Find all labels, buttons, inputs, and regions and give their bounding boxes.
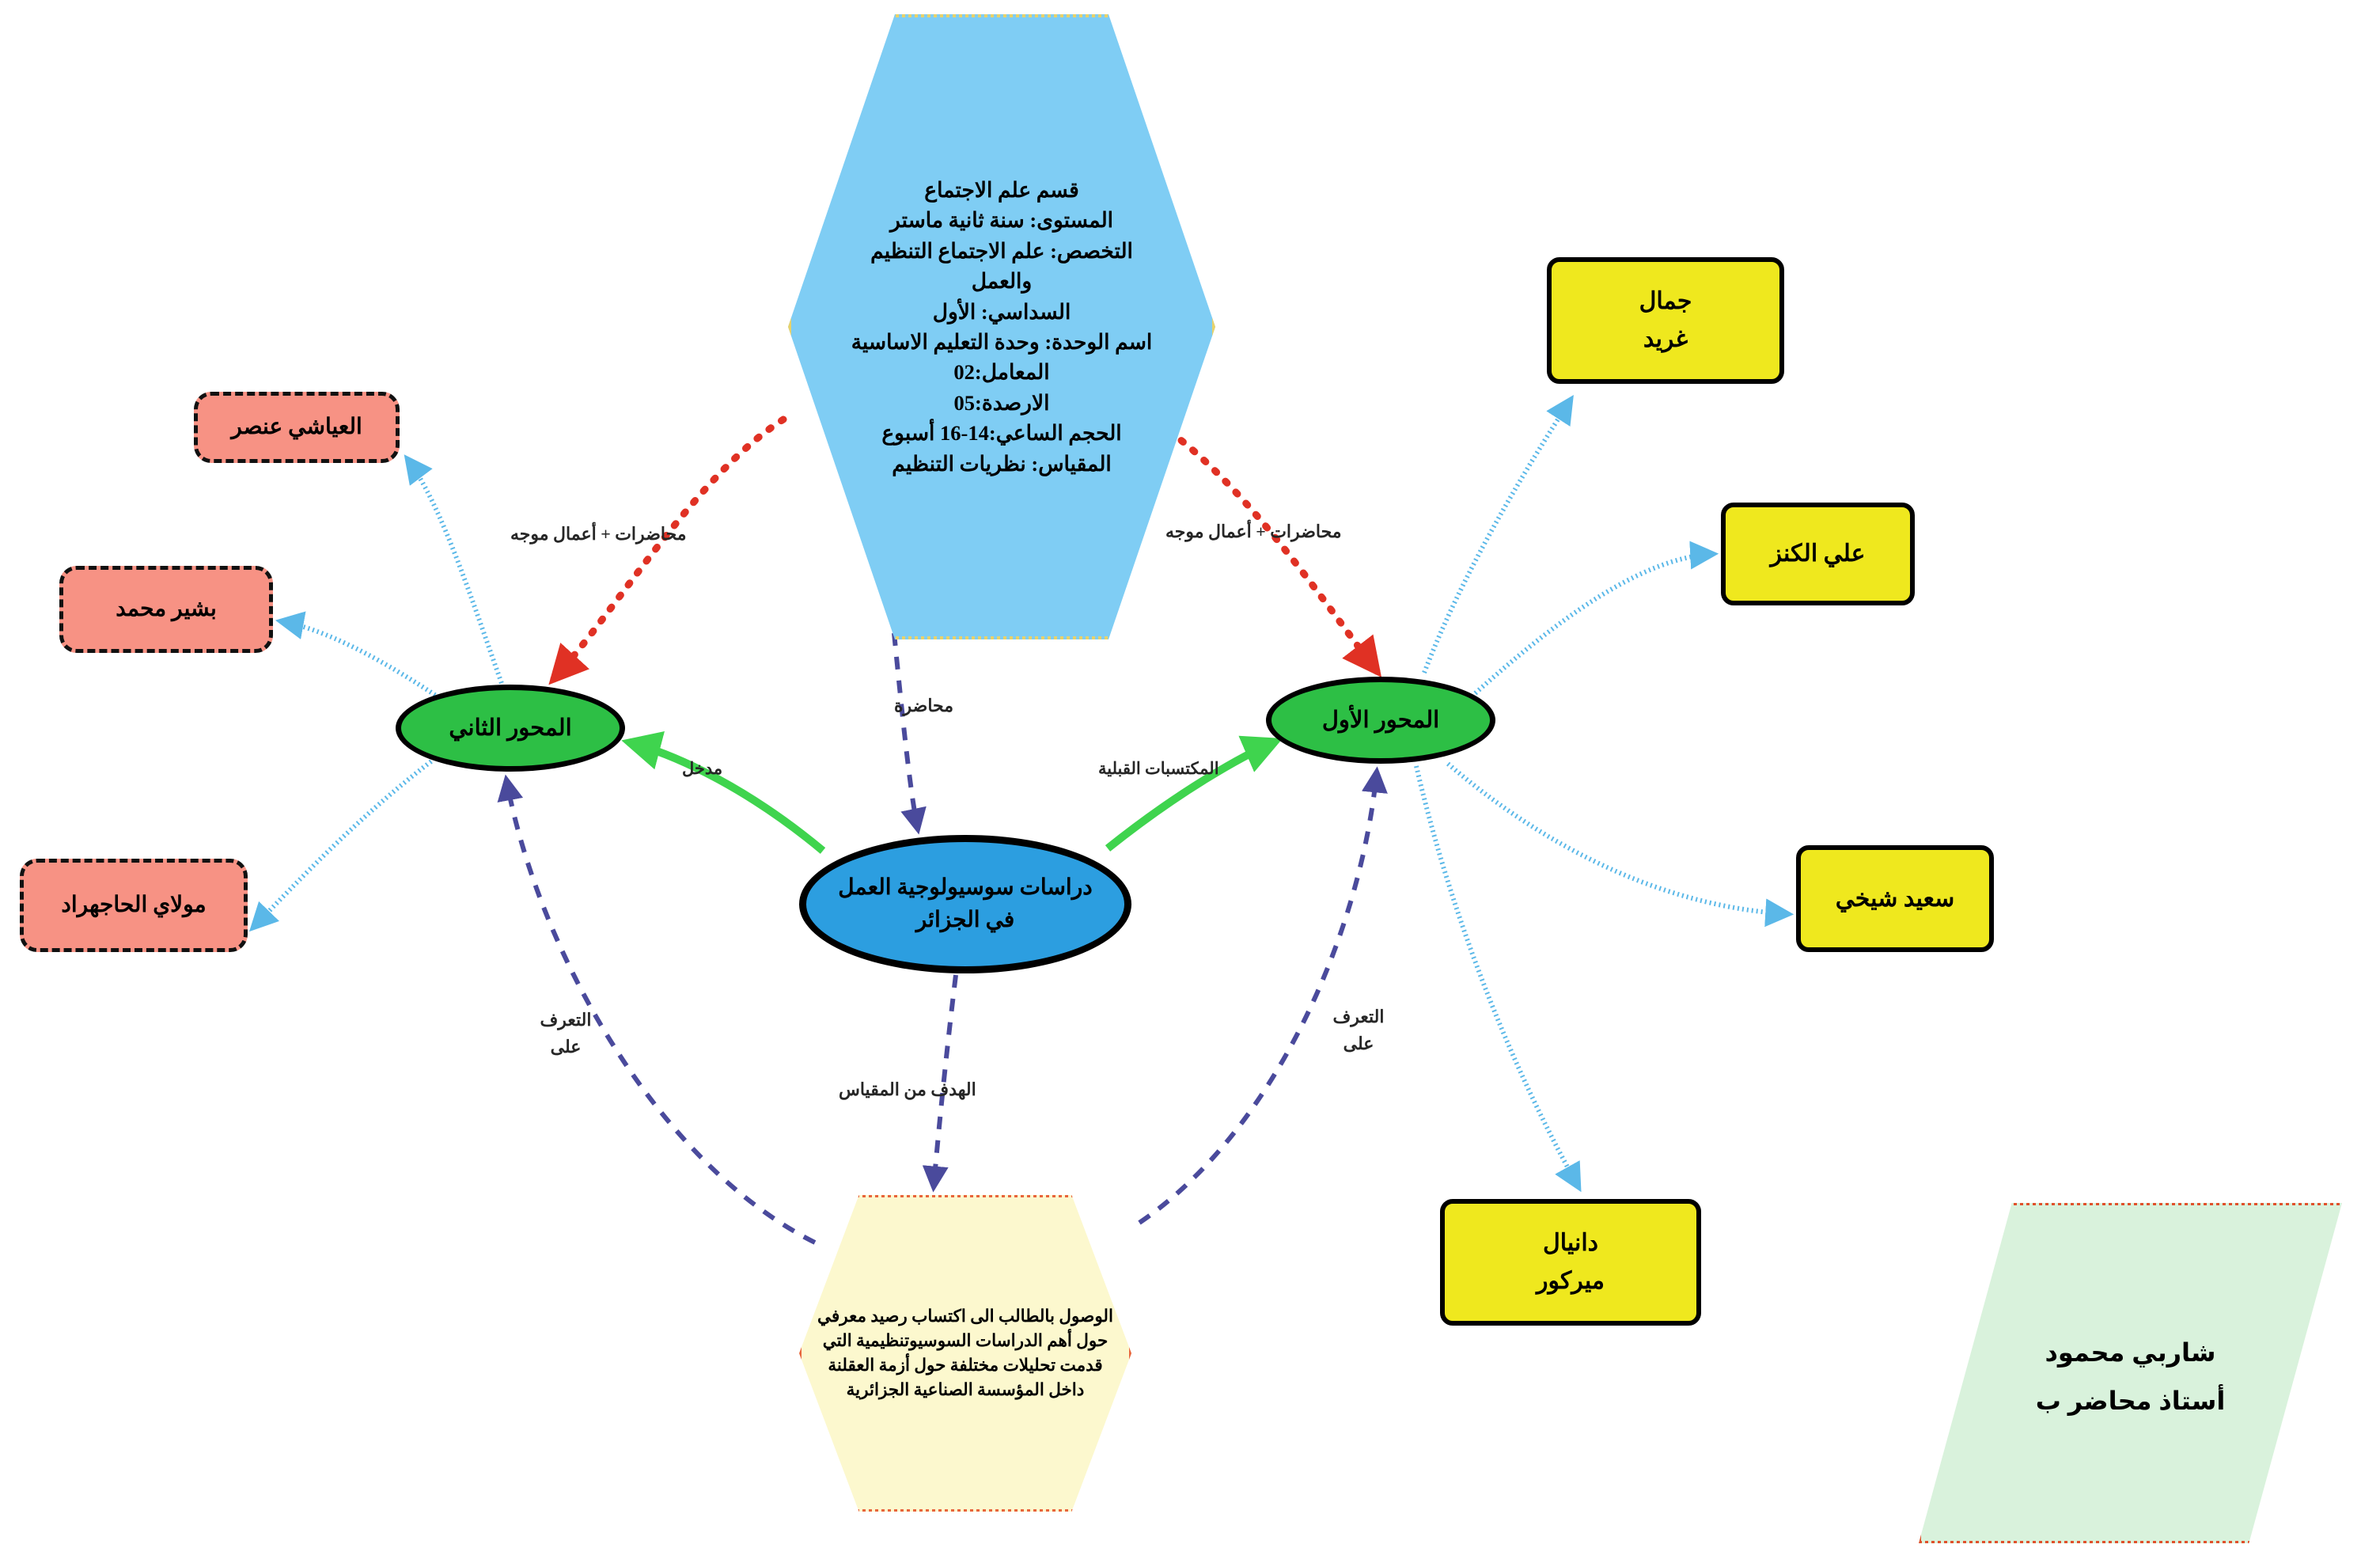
course-info-line-6: المعامل:02 [953, 357, 1049, 387]
course-info-line-0: قسم علم الاجتماع [924, 175, 1078, 205]
edge-label-lectures-left: محاضرات + أعمال موجه [510, 521, 687, 548]
mindmap-canvas: قسم علم الاجتماع المستوى: سنة ثانية ماست… [0, 0, 2380, 1548]
teacher-parallelogram-text: شاربي محمود أستاذ محاضر ب [1919, 1203, 2342, 1543]
edge-objective-to-axis1 [1139, 772, 1377, 1223]
edge-label-goal-of-course: الهدف من المقياس [839, 1076, 976, 1103]
edge-label-identify-left-line1: التعرف [530, 1007, 601, 1034]
author-label-moulay: مولاي الحاجهراد [61, 890, 206, 922]
course-info-line-8: الحجم الساعي:14-16 أسبوع [881, 418, 1121, 448]
edge-axis2-to-bachir [281, 621, 455, 708]
edge-label-entry: مدخل [682, 756, 722, 782]
edge-axis1-to-said [1448, 764, 1788, 914]
edge-info-to-center [894, 633, 918, 829]
objective-line-2: قدمت تحليلات مختلفة حول أزمة العقلنة [828, 1353, 1102, 1378]
course-info-line-3: والعمل [972, 266, 1032, 296]
objective-hexagon: الوصول بالطالب الى اكتساب رصيد معرفي حول… [799, 1195, 1131, 1512]
author-box-ayachi[interactable]: العياشي عنصر [194, 392, 400, 463]
author-label-ali-elkenz: علي الكنز [1771, 535, 1866, 573]
author-box-bachir[interactable]: بشير محمد [59, 566, 273, 653]
author-box-ali-elkenz[interactable]: علي الكنز [1721, 503, 1915, 605]
course-info-line-5: اسم الوحدة: وحدة التعليم الاساسية [851, 327, 1153, 357]
edge-label-identify-left-line2: على [530, 1034, 601, 1060]
edge-axis2-to-ayachi [407, 459, 506, 696]
author-label-mercure: ميركور [1537, 1262, 1605, 1300]
edge-label-lectures-right: محاضرات + أعمال موجه [1165, 518, 1342, 545]
author-label-ghrid: غريد [1643, 321, 1688, 359]
edge-label-identify-left: التعرف على [530, 1007, 601, 1060]
author-label-daniel: دانيال [1543, 1224, 1598, 1262]
author-box-djamel-ghrid[interactable]: جمال غريد [1547, 257, 1784, 384]
edge-label-lecture: محاضرة [894, 692, 953, 719]
objective-line-3: داخل المؤسسة الصناعية الجزائرية [847, 1378, 1085, 1402]
edge-axis1-to-mercure [1416, 766, 1578, 1187]
axis-2-ellipse[interactable]: المحور الثاني [396, 685, 625, 772]
central-topic-ellipse[interactable]: دراسات سوسيولوجية العمل في الجزائر [799, 835, 1131, 973]
axis-1-label: المحور الأول [1322, 704, 1439, 737]
edge-axis1-to-elkenz [1472, 554, 1713, 696]
author-label-bachir: بشير محمد [116, 594, 217, 626]
author-label-said-chikhi: سعيد شيخي [1836, 880, 1954, 918]
course-info-line-9: المقياس: نظريات التنظيم [892, 449, 1112, 479]
course-info-line-2: التخصص: علم الاجتماع التنظيم [870, 236, 1133, 266]
teacher-parallelogram: شاربي محمود أستاذ محاضر ب [1919, 1203, 2342, 1543]
course-info-line-4: السداسي: الأول [933, 297, 1071, 327]
objective-line-1: حول أهم الدراسات السوسيوتنظيمية التي [823, 1329, 1109, 1353]
central-topic-line-1: في الجزائر [916, 905, 1015, 937]
edge-info-to-axis1 [1169, 431, 1377, 671]
course-info-line-7: الارصدة:05 [954, 388, 1050, 418]
course-info-hexagon: قسم علم الاجتماع المستوى: سنة ثانية ماست… [788, 14, 1215, 639]
author-label-ayachi: العياشي عنصر [231, 412, 362, 444]
teacher-name: شاربي محمود [2045, 1329, 2216, 1377]
course-info-line-1: المستوى: سنة ثانية ماستر [890, 205, 1113, 235]
objective-line-0: الوصول بالطالب الى اكتساب رصيد معرفي [817, 1304, 1113, 1329]
axis-1-ellipse[interactable]: المحور الأول [1266, 677, 1495, 764]
author-box-moulay[interactable]: مولاي الحاجهراد [20, 859, 248, 952]
edge-label-identify-right-line2: على [1323, 1030, 1394, 1057]
author-box-said-chikhi[interactable]: سعيد شيخي [1796, 845, 1994, 952]
central-topic-line-0: دراسات سوسيولوجية العمل [838, 872, 1092, 905]
edge-info-to-axis2 [554, 419, 783, 679]
edge-center-to-axis2 [629, 742, 823, 851]
edge-label-identify-right-line1: التعرف [1323, 1004, 1394, 1030]
edge-axis1-to-djamel [1424, 400, 1571, 673]
edge-label-prior-knowledge: المكتسبات القبلية [1098, 756, 1219, 782]
author-label-djamel: جمال [1639, 283, 1692, 321]
author-box-daniel-mercure[interactable]: دانيال ميركور [1440, 1199, 1701, 1326]
teacher-rank: أستاذ محاضر ب [2036, 1377, 2226, 1425]
edge-axis2-to-moulay [253, 761, 431, 928]
axis-2-label: المحور الثاني [449, 711, 571, 745]
edge-label-identify-right: التعرف على [1323, 1004, 1394, 1057]
